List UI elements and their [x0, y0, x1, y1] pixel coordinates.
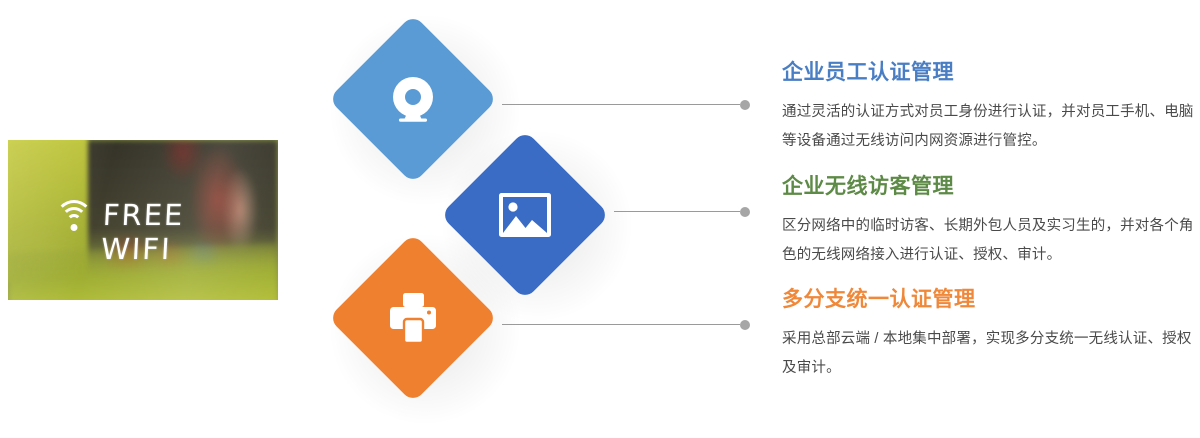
connector-endpoint-2 — [740, 207, 750, 217]
printer-icon — [353, 258, 473, 378]
feature-block-employee-auth: 企业员工认证管理 通过灵活的认证方式对员工身份进行认证，并对员工手机、电脑等设备… — [782, 60, 1194, 156]
connector-endpoint-3 — [740, 320, 750, 330]
feature-block-guest-management: 企业无线访客管理 区分网络中的临时访客、长期外包人员及实习生的，并对各个角色的无… — [782, 174, 1194, 270]
diamond-employee-auth[interactable] — [328, 14, 498, 184]
webcam-icon — [353, 39, 473, 159]
connector-line-3 — [502, 324, 740, 325]
connector-endpoint-1 — [740, 100, 750, 110]
connector-line-2 — [614, 211, 740, 212]
diamond-multi-branch-auth[interactable] — [328, 233, 498, 403]
image-picture-icon — [465, 155, 585, 275]
feature-description: 采用总部云端 / 本地集中部署，实现多分支统一无线认证、授权及审计。 — [782, 325, 1194, 383]
feature-title: 企业无线访客管理 — [782, 174, 1194, 199]
feature-title: 企业员工认证管理 — [782, 60, 1194, 85]
connector-line-1 — [502, 104, 740, 105]
photo-glass-sheen — [8, 140, 278, 300]
feature-diagram-stage: FREE WIFI — [0, 0, 1200, 418]
feature-title: 多分支统一认证管理 — [782, 287, 1194, 312]
feature-description: 区分网络中的临时访客、长期外包人员及实习生的，并对各个角色的无线网络接入进行认证… — [782, 212, 1194, 270]
free-wifi-photo: FREE WIFI — [8, 140, 278, 300]
feature-block-multi-branch-auth: 多分支统一认证管理 采用总部云端 / 本地集中部署，实现多分支统一无线认证、授权… — [782, 287, 1194, 383]
feature-description: 通过灵活的认证方式对员工身份进行认证，并对员工手机、电脑等设备通过无线访问内网资… — [782, 98, 1194, 156]
